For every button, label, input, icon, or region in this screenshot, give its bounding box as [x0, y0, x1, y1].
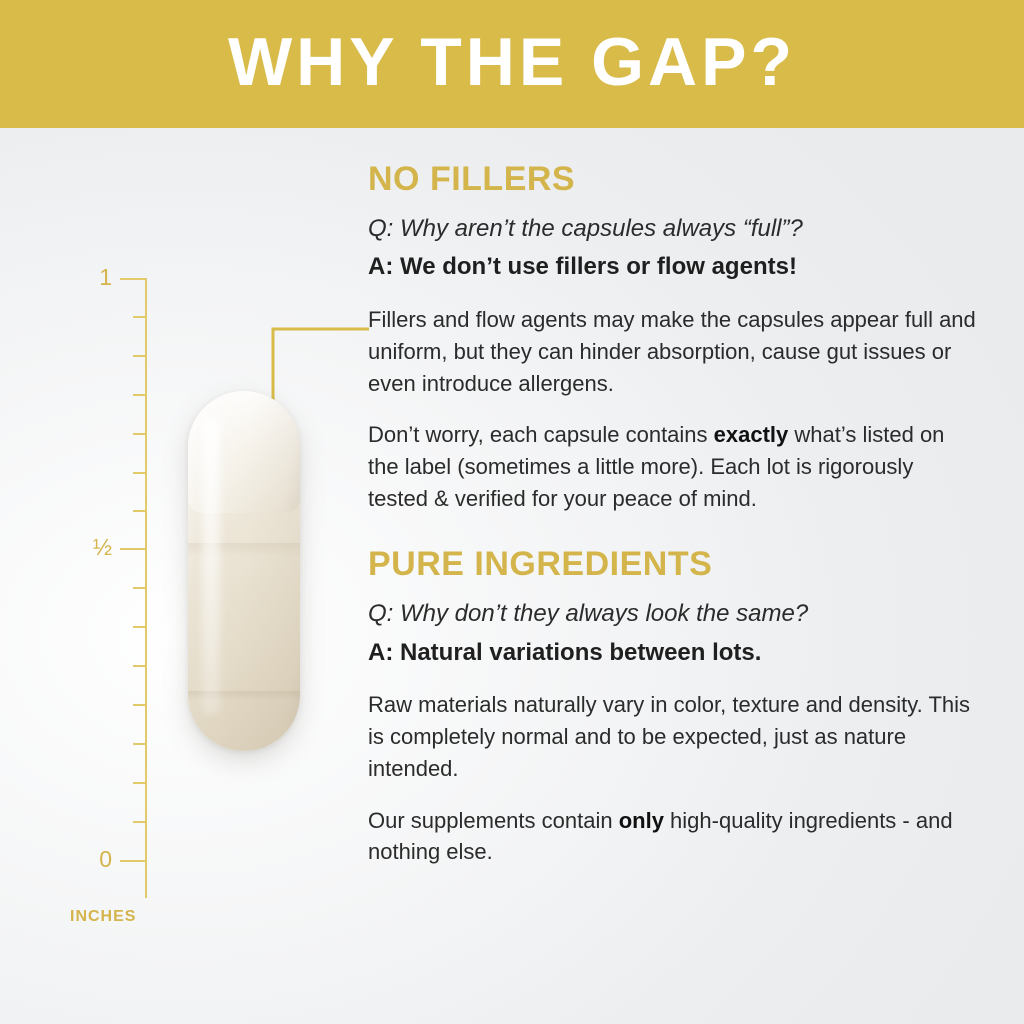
ruler-label-one: 1 — [72, 264, 112, 291]
ruler-tick-minor — [133, 472, 147, 474]
emphasis-exactly: exactly — [714, 422, 789, 447]
paragraph-fillers-explained: Fillers and flow agents may make the cap… — [368, 304, 976, 400]
ruler-label-zero: 0 — [72, 846, 112, 873]
ruler-tick-major — [120, 860, 147, 862]
illustration-column: 1 ½ 0 INCHES — [0, 128, 352, 1024]
emphasis-only: only — [619, 808, 664, 833]
question-no-fillers: Q: Why aren’t the capsules always “full”… — [368, 213, 976, 245]
ruler-tick-minor — [133, 665, 147, 667]
section-heading-no-fillers: NO FILLERS — [368, 160, 976, 199]
capsule-highlight — [202, 415, 220, 715]
paragraph-only-high-quality: Our supplements contain only high-qualit… — [368, 805, 976, 869]
answer-pure-ingredients: A: Natural variations between lots. — [368, 637, 976, 669]
ruler-tick-minor — [133, 316, 147, 318]
content-column: NO FILLERS Q: Why aren’t the capsules al… — [368, 160, 976, 888]
ruler-tick-minor — [133, 510, 147, 512]
ruler-tick-minor — [133, 394, 147, 396]
paragraph-raw-materials: Raw materials naturally vary in color, t… — [368, 689, 976, 785]
section-pure-ingredients: PURE INGREDIENTS Q: Why don’t they alway… — [368, 545, 976, 868]
section-heading-pure-ingredients: PURE INGREDIENTS — [368, 545, 976, 584]
ruler-tick-minor — [133, 704, 147, 706]
paragraph-only-part1: Our supplements contain — [368, 808, 619, 833]
ruler-tick-minor — [133, 782, 147, 784]
infographic-page: WHY THE GAP? 1 ½ — [0, 0, 1024, 1024]
ruler-tick-minor — [133, 821, 147, 823]
ruler-tick-minor — [133, 355, 147, 357]
capsule-image — [188, 391, 306, 757]
page-title: WHY THE GAP? — [228, 28, 796, 96]
header-banner: WHY THE GAP? — [0, 0, 1024, 128]
paragraph-exact-contents: Don’t worry, each capsule contains exact… — [368, 419, 976, 515]
ruler-unit-label: INCHES — [70, 908, 136, 926]
ruler-tick-major — [120, 278, 147, 280]
ruler-tick-minor — [133, 626, 147, 628]
ruler-label-half: ½ — [72, 534, 112, 561]
question-pure-ingredients: Q: Why don’t they always look the same? — [368, 598, 976, 630]
capsule-body — [188, 391, 300, 751]
ruler-tick-minor — [133, 433, 147, 435]
ruler-tick-major — [120, 548, 147, 550]
ruler-tick-minor — [133, 743, 147, 745]
paragraph-exact-contents-part1: Don’t worry, each capsule contains — [368, 422, 714, 447]
ruler-scale: 1 ½ 0 INCHES — [120, 278, 180, 898]
answer-no-fillers: A: We don’t use fillers or flow agents! — [368, 251, 976, 283]
ruler-tick-minor — [133, 587, 147, 589]
